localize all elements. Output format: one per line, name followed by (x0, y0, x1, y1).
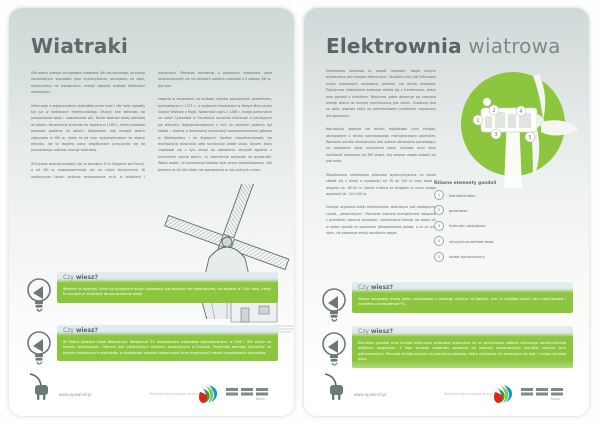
svg-text:4: 4 (519, 109, 522, 115)
did-you-know-header: Czy wiesz? (57, 272, 278, 283)
body-text-left: Siła wiatru zawsze intrygowała człowieka… (31, 70, 272, 180)
legend-label: hamulec postojowy (449, 223, 486, 228)
did-you-know-text: W Polsce powstał Szlak Wiatraczny. Rozpo… (63, 340, 271, 356)
legend-item: 1 transformator (434, 190, 579, 200)
header-light: Czy (63, 274, 74, 281)
paragraph: Informacje o wykorzystaniu wiatraków prz… (31, 103, 145, 154)
nacelle-legend: Główne elementy gondoli 1 transformator … (434, 180, 579, 267)
page-wiatraki: Wiatraki Siła wiatru zawsze intrygowała … (9, 8, 294, 416)
legend-number: 1 (434, 190, 444, 200)
footer-credit: Materiał opracowano przez: (149, 392, 199, 396)
legend-number: 5 (434, 252, 444, 262)
lightbulb-icon (320, 330, 350, 370)
partner-logo: Nova (198, 384, 278, 404)
footer-url[interactable]: www.opawind.pl (354, 392, 387, 397)
partner-logo: Nova (493, 384, 573, 404)
legend-label: skrzynia przekładniowa (449, 239, 494, 244)
legend-item: 4 skrzynia przekładniowa (434, 236, 579, 246)
svg-text:2: 2 (492, 108, 495, 114)
lightbulb-icon (320, 286, 350, 326)
logo-swirl-icon (198, 384, 220, 404)
header-light: Czy (63, 327, 74, 334)
legend-label: układ hydrauliczny (449, 254, 485, 259)
did-you-know-text: Wiatraki w Holandii, które są symbolem o… (63, 287, 271, 298)
power-plug-icon (322, 372, 352, 406)
did-you-know-box-1: Czy wiesz? Wiatraki w Holandii, które są… (25, 272, 278, 303)
logo-wordmark: Nova (521, 387, 567, 401)
brochure-spread: Wiatraki Siła wiatru zawsze intrygowała … (0, 0, 600, 424)
lightbulb-icon (25, 276, 55, 316)
svg-text:3: 3 (494, 132, 497, 138)
legend-number: 2 (434, 205, 444, 215)
paragraph: Energia uzyskana dzięki elektrowniom wia… (326, 204, 436, 236)
did-you-know-body: Wiatraki w Holandii, które są symbolem o… (57, 283, 278, 303)
did-you-know-header: Czy wiesz? (352, 326, 573, 337)
paragraph: Siła wiatru zawsze intrygowała człowieka… (31, 70, 145, 96)
page-title-left: Wiatraki (31, 34, 128, 58)
power-plug-icon (27, 372, 57, 406)
legend-item: 3 hamulec postojowy (434, 221, 579, 231)
paragraph: Współczesna elektrownia wiatrowa wykorzy… (326, 172, 436, 198)
logo-subtext: Nova (256, 397, 265, 401)
did-you-know-box-2: Czy wiesz? Elementy gondoli oraz śmigła … (320, 326, 573, 368)
logo-wordmark: Nova (226, 387, 272, 401)
did-you-know-text: Elementy gondoli oraz śmigła elektrowni … (358, 341, 566, 363)
did-you-know-body: W Polsce powstał Szlak Wiatraczny. Rozpo… (57, 336, 278, 361)
header-bold: wiesz? (76, 274, 98, 281)
header-light: Czy (358, 328, 369, 335)
page-footer-left: www.opawind.pl Materiał opracowano przez… (9, 370, 294, 416)
lightbulb-icon (25, 329, 55, 369)
page-footer-right: www.opawind.pl Materiał opracowano przez… (304, 370, 589, 416)
paragraph: Elektrownia wiatrowa to zespół urządzeń,… (326, 68, 436, 119)
header-light: Czy (358, 284, 369, 291)
legend-number: 4 (434, 236, 444, 246)
legend-number: 3 (434, 221, 444, 231)
legend-title: Główne elementy gondoli (434, 180, 579, 185)
legend-item: 2 generator (434, 205, 579, 215)
did-you-know-header: Czy wiesz? (57, 325, 278, 336)
svg-text:1: 1 (476, 118, 479, 124)
legend-label: generator (449, 208, 468, 213)
page-title-bold: Elektrownia (326, 34, 462, 58)
footer-url[interactable]: www.opawind.pl (59, 392, 92, 397)
header-bold: wiesz? (371, 284, 393, 291)
did-you-know-body: Można zarządzać pracą parku wiatrowego z… (352, 293, 573, 313)
did-you-know-header: Czy wiesz? (352, 282, 573, 293)
legend-item: 5 układ hydrauliczny (434, 252, 579, 262)
header-bold: wiesz? (371, 328, 393, 335)
page-title-right: Elektrownia wiatrowa (326, 34, 561, 58)
logo-subtext: Nova (551, 397, 560, 401)
blade-right (541, 120, 579, 135)
svg-text:5: 5 (528, 135, 531, 141)
logo-swirl-icon (493, 384, 515, 404)
did-you-know-text: Można zarządzać pracą parku wiatrowego z… (358, 297, 566, 308)
wind-turbine-nacelle-diagram: 1 2 3 4 5 (451, 66, 583, 188)
footer-credit: Materiał opracowano przez: (444, 392, 494, 396)
header-bold: wiesz? (76, 327, 98, 334)
body-text-right: Elektrownia wiatrowa to zespół urządzeń,… (326, 68, 436, 243)
paragraph: zawarta w zezwoleniu na budowę młynów po… (158, 96, 272, 173)
legend-label: transformator (449, 193, 475, 198)
paragraph: Najczęściej spotyka się wirniki trójpłat… (326, 126, 436, 164)
did-you-know-box-1: Czy wiesz? Można zarządzać pracą parku w… (320, 282, 573, 313)
page-elektrownia: Elektrownia wiatrowa Elektrownia wiatrow… (304, 8, 589, 416)
page-title-light: wiatrowa (468, 34, 560, 58)
did-you-know-box-2: Czy wiesz? W Polsce powstał Szlak Wiatra… (25, 325, 278, 361)
did-you-know-body: Elementy gondoli oraz śmigła elektrowni … (352, 337, 573, 368)
